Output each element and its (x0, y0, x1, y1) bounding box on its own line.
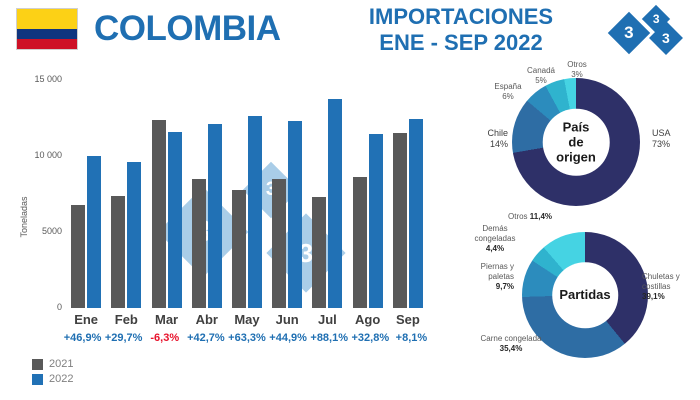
donut-label-otros-partidas: Otros 11,4% (508, 212, 580, 222)
variation-jun: +44,9% (268, 332, 309, 344)
bar-abr-2021 (192, 179, 206, 308)
variation-labels: +46,9%+29,7%-6,3%+42,7%+63,3%+44,9%+88,1… (62, 332, 432, 344)
x-label-feb: Feb (106, 312, 146, 327)
legend-item-2021: 2021 (32, 358, 73, 370)
bar-group-mar (146, 80, 186, 308)
bar-group-jun (267, 80, 307, 308)
donut-label-chuletas: Chuletas y costillas 39,1% (642, 272, 698, 302)
bar-mar-2021 (152, 120, 166, 308)
bar-group-abr (187, 80, 227, 308)
bar-abr-2022 (208, 124, 222, 308)
x-axis-labels: EneFebMarAbrMayJunJulAgoSep (66, 312, 428, 327)
logo-digit-3: 3 (662, 30, 670, 46)
donut-label-chile: Chile 14% (462, 128, 508, 150)
x-label-abr: Abr (187, 312, 227, 327)
page-title-country: COLOMBIA (94, 8, 281, 50)
page-title-main: IMPORTACIONES ENE - SEP 2022 (330, 4, 592, 56)
logo-digit-1: 3 (624, 23, 633, 43)
donut-center-label-pais-de-origen: Paísdeorigen (543, 109, 610, 176)
legend-swatch-2021 (32, 359, 43, 370)
bar-jun-2021 (272, 179, 286, 308)
variation-abr: +42,7% (185, 332, 226, 344)
bar-jul-2021 (312, 197, 326, 308)
donut-label-carne-congelada: Carne congelada 35,4% (480, 334, 542, 354)
x-label-ago: Ago (348, 312, 388, 327)
y-tick-0: 0 (14, 302, 62, 312)
donut-label-demas-congeladas: Demás congeladas 4,4% (466, 224, 524, 254)
bar-jul-2022 (328, 99, 342, 308)
y-axis-title: Toneladas (19, 177, 29, 257)
variation-mar: -6,3% (144, 332, 185, 344)
flag-band-red (17, 39, 77, 49)
header: COLOMBIA IMPORTACIONES ENE - SEP 2022 3 … (0, 0, 700, 62)
donut-chart-pais-de-origen: Paísdeorigen (512, 78, 640, 206)
bar-group-ene (66, 80, 106, 308)
variation-ene: +46,9% (62, 332, 103, 344)
bar-group-feb (106, 80, 146, 308)
legend-item-2022: 2022 (32, 373, 73, 385)
bar-may-2022 (248, 116, 262, 308)
colombia-flag-icon (16, 8, 78, 50)
bar-ene-2022 (87, 156, 101, 308)
legend-swatch-2022 (32, 374, 43, 385)
donut-label-otros-origen: Otros 3% (560, 60, 594, 80)
donut-center-text-partidas: Partidas (559, 287, 610, 302)
bar-ene-2021 (71, 205, 85, 308)
bar-group-may (227, 80, 267, 308)
bar-chart-plot-area: 3 3 3 (66, 80, 428, 308)
bar-feb-2022 (127, 162, 141, 308)
variation-may: +63,3% (226, 332, 267, 344)
donut-ring-pais-de-origen: Paísdeorigen (512, 78, 640, 206)
brand-logo-333: 3 3 3 (612, 8, 688, 56)
bar-group-ago (348, 80, 388, 308)
bar-chart-legend: 2021 2022 (32, 358, 73, 388)
donut-center-label-partidas: Partidas (552, 262, 618, 328)
donut-label-piernas-paletas: Piernas y paletas 9,7% (458, 262, 514, 292)
flag-band-yellow (17, 9, 77, 29)
bar-group-jul (307, 80, 347, 308)
bar-jun-2022 (288, 121, 302, 308)
donut-center-text-origen: Paísdeorigen (556, 119, 596, 164)
bar-chart: Toneladas 15 00010 00050000 3 3 3 EneFeb… (0, 62, 445, 400)
x-label-jul: Jul (307, 312, 347, 327)
donut-label-usa: USA 73% (652, 128, 698, 150)
y-tick-15000: 15 000 (14, 74, 62, 84)
bar-sep-2022 (409, 119, 423, 308)
x-label-sep: Sep (388, 312, 428, 327)
donut-label-canada: Canadá 5% (520, 66, 562, 86)
x-label-mar: Mar (146, 312, 186, 327)
logo-digit-2: 3 (653, 12, 660, 26)
bar-ago-2021 (353, 177, 367, 308)
legend-label-2021: 2021 (49, 358, 73, 370)
bar-mar-2022 (168, 132, 182, 308)
bar-ago-2022 (369, 134, 383, 308)
bar-sep-2021 (393, 133, 407, 308)
variation-ago: +32,8% (350, 332, 391, 344)
bar-feb-2021 (111, 196, 125, 308)
y-tick-10000: 10 000 (14, 150, 62, 160)
bar-may-2021 (232, 190, 246, 308)
page-title-line1: IMPORTACIONES (330, 4, 592, 30)
variation-jul: +88,1% (309, 332, 350, 344)
legend-label-2022: 2022 (49, 373, 73, 385)
x-label-may: May (227, 312, 267, 327)
x-label-jun: Jun (267, 312, 307, 327)
bar-group-sep (388, 80, 428, 308)
flag-band-blue (17, 29, 77, 39)
bar-groups (66, 80, 428, 308)
y-tick-5000: 5000 (14, 226, 62, 236)
x-label-ene: Ene (66, 312, 106, 327)
page-title-line2: ENE - SEP 2022 (330, 30, 592, 56)
variation-sep: +8,1% (391, 332, 432, 344)
variation-feb: +29,7% (103, 332, 144, 344)
